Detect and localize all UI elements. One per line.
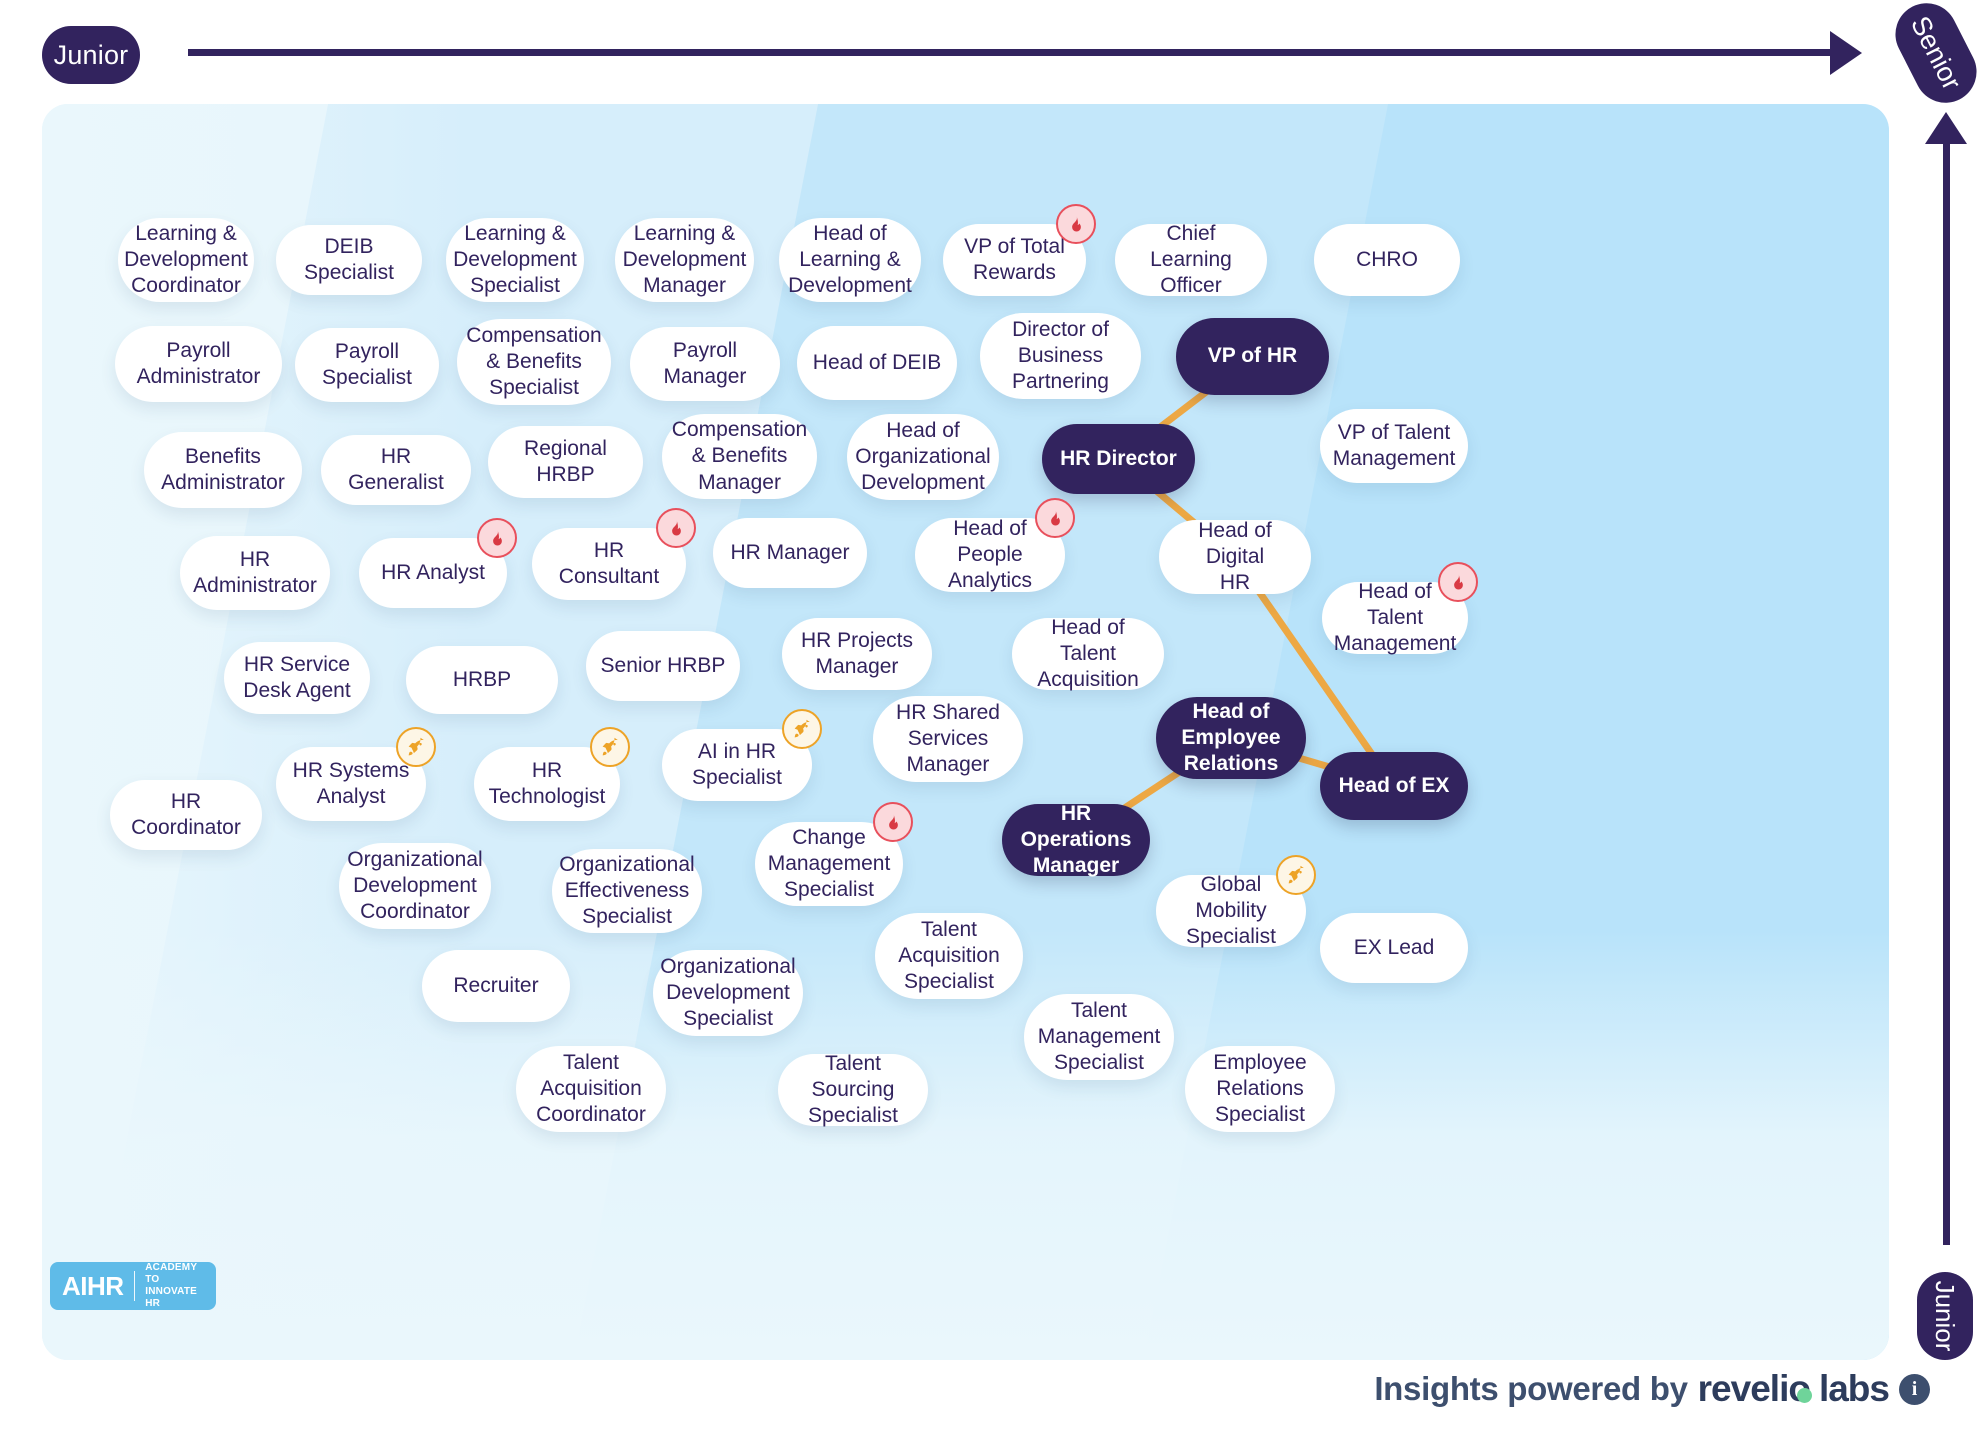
role-bubble-label: Compensation& BenefitsManager: [672, 417, 807, 495]
role-bubble-hr-manager[interactable]: HR Manager: [713, 518, 867, 588]
role-bubble-label: HR Analyst: [381, 560, 485, 586]
revelio-word: revelio: [1698, 1368, 1810, 1410]
role-bubble-hr-director[interactable]: HR Director: [1042, 424, 1195, 494]
aihr-wordmark: AIHR: [62, 1271, 124, 1302]
role-bubble-head-of-deib[interactable]: Head of DEIB: [797, 326, 957, 400]
role-bubble-label: Recruiter: [453, 973, 538, 999]
role-bubble-head-of-talent-acquisition[interactable]: Head of TalentAcquisition: [1012, 618, 1164, 690]
role-bubble-label: HRBP: [453, 667, 511, 693]
role-bubble-label: OrganizationalDevelopmentCoordinator: [347, 847, 482, 925]
role-bubble-payroll-specialist[interactable]: PayrollSpecialist: [295, 328, 439, 402]
footer-insights-text: Insights powered by: [1374, 1370, 1687, 1408]
role-bubble-chro[interactable]: CHRO: [1314, 224, 1460, 296]
role-bubble-label: DEIB Specialist: [288, 234, 410, 286]
flame-icon: [1035, 498, 1075, 538]
role-bubble-director-of-business-partnering[interactable]: Director ofBusinessPartnering: [980, 313, 1141, 399]
role-bubble-payroll-administrator[interactable]: PayrollAdministrator: [115, 326, 282, 402]
role-bubble-label: HR Generalist: [333, 444, 459, 496]
role-bubble-deib-specialist[interactable]: DEIB Specialist: [276, 225, 422, 295]
role-bubble-label: HRAdministrator: [193, 547, 317, 599]
role-bubble-label: VP of TotalRewards: [964, 234, 1065, 286]
role-bubble-talent-sourcing-specialist[interactable]: Talent SourcingSpecialist: [778, 1054, 928, 1126]
role-bubble-label: OrganizationalEffectivenessSpecialist: [559, 852, 694, 930]
axis-senior-badge: Senior: [1885, 0, 1986, 113]
role-bubble-label: Head ofOrganizationalDevelopment: [855, 418, 990, 496]
role-bubble-hr-projects-manager[interactable]: HR ProjectsManager: [782, 618, 932, 690]
seniority-axis-arrowhead: [1830, 31, 1862, 75]
role-bubble-hrbp[interactable]: HRBP: [406, 646, 558, 714]
seniority-axis-line: [188, 49, 1838, 56]
flame-icon: [1438, 562, 1478, 602]
role-bubble-label: Head of EX: [1339, 773, 1450, 799]
labs-word: labs: [1819, 1368, 1889, 1410]
role-bubble-ex-lead[interactable]: EX Lead: [1320, 913, 1468, 983]
role-bubble-label: HR Manager: [730, 540, 849, 566]
role-bubble-label: PayrollSpecialist: [322, 339, 412, 391]
role-bubble-label: Learning &DevelopmentCoordinator: [124, 221, 248, 299]
aihr-tagline-line2: INNOVATE HR: [145, 1286, 204, 1310]
role-bubble-label: Talent SourcingSpecialist: [790, 1051, 916, 1129]
role-bubble-label: Global MobilitySpecialist: [1168, 872, 1294, 950]
role-bubble-label: VP of TalentManagement: [1333, 420, 1456, 472]
role-bubble-label: Senior HRBP: [601, 653, 726, 679]
role-bubble-head-of-employee-relations[interactable]: Head ofEmployeeRelations: [1156, 697, 1306, 779]
role-bubble-organizational-development-coordinator[interactable]: OrganizationalDevelopmentCoordinator: [339, 843, 491, 929]
role-bubble-hr-shared-services-manager[interactable]: HR SharedServicesManager: [873, 696, 1023, 782]
role-bubble-label: PayrollAdministrator: [137, 338, 261, 390]
role-bubble-label: Head of TalentManagement: [1334, 579, 1457, 657]
role-bubble-learning-development-coordinator[interactable]: Learning &DevelopmentCoordinator: [118, 218, 254, 302]
role-bubble-hr-coordinator[interactable]: HR Coordinator: [110, 780, 262, 850]
role-bubble-label: TalentAcquisitionSpecialist: [898, 917, 1000, 995]
role-bubble-organizational-development-specialist[interactable]: OrganizationalDevelopmentSpecialist: [653, 950, 803, 1036]
role-bubble-compensation-benefits-specialist[interactable]: Compensation& BenefitsSpecialist: [457, 319, 611, 405]
role-bubble-label: HRTechnologist: [489, 758, 606, 810]
role-bubble-label: Learning &DevelopmentManager: [623, 221, 747, 299]
role-bubble-label: ChangeManagementSpecialist: [768, 825, 891, 903]
role-bubble-label: HR Director: [1060, 446, 1177, 472]
role-bubble-label: Head of PeopleAnalytics: [927, 516, 1053, 594]
role-bubble-label: Head ofEmployeeRelations: [1181, 699, 1280, 777]
role-bubble-employee-relations-specialist[interactable]: EmployeeRelationsSpecialist: [1185, 1046, 1335, 1132]
role-bubble-label: AI in HRSpecialist: [692, 739, 782, 791]
role-bubble-label: HR SystemsAnalyst: [293, 758, 410, 810]
role-bubble-label: Regional HRBP: [500, 436, 631, 488]
role-bubble-talent-acquisition-coordinator[interactable]: TalentAcquisitionCoordinator: [516, 1046, 666, 1132]
role-bubble-recruiter[interactable]: Recruiter: [422, 950, 570, 1022]
rocket-icon: [1276, 855, 1316, 895]
revelio-green-dot: [1797, 1388, 1812, 1403]
role-bubble-label: Head of TalentAcquisition: [1024, 615, 1152, 693]
role-bubble-hr-generalist[interactable]: HR Generalist: [321, 435, 471, 505]
career-path-map: Junior Senior Junior AIHR ACADEMY TO INN…: [0, 0, 1986, 1440]
role-bubble-label: HR OperationsManager: [1014, 801, 1138, 879]
role-bubble-benefits-administrator[interactable]: BenefitsAdministrator: [144, 432, 302, 508]
role-bubble-talent-management-specialist[interactable]: TalentManagementSpecialist: [1024, 994, 1174, 1080]
flame-icon: [1056, 204, 1096, 244]
role-bubble-label: TalentAcquisitionCoordinator: [536, 1050, 646, 1128]
flame-icon: [873, 802, 913, 842]
role-bubble-regional-hrbp[interactable]: Regional HRBP: [488, 426, 643, 498]
vertical-axis-arrowhead: [1925, 112, 1967, 144]
role-bubble-talent-acquisition-specialist[interactable]: TalentAcquisitionSpecialist: [875, 913, 1023, 999]
role-bubble-learning-development-specialist[interactable]: Learning &DevelopmentSpecialist: [446, 218, 584, 302]
revelio-labs-logo: reveliolabs: [1698, 1368, 1889, 1410]
role-bubble-vp-of-talent-management[interactable]: VP of TalentManagement: [1320, 409, 1468, 483]
role-bubble-label: BenefitsAdministrator: [161, 444, 285, 496]
role-bubble-label: Chief LearningOfficer: [1127, 221, 1255, 299]
role-bubble-label: Head of DEIB: [813, 350, 941, 376]
role-bubble-label: TalentManagementSpecialist: [1038, 998, 1161, 1076]
role-bubble-head-of-digital-hr[interactable]: Head of DigitalHR: [1159, 520, 1311, 594]
flame-icon: [656, 508, 696, 548]
aihr-logo: AIHR ACADEMY TO INNOVATE HR: [50, 1262, 216, 1310]
role-bubble-label: EX Lead: [1354, 935, 1435, 961]
role-bubble-label: CHRO: [1356, 247, 1418, 273]
vertical-axis-line: [1943, 140, 1950, 1245]
role-bubble-label: Director ofBusinessPartnering: [1012, 317, 1109, 395]
role-bubble-vp-of-hr[interactable]: VP of HR: [1176, 318, 1329, 395]
role-bubble-organizational-effectiveness-specialist[interactable]: OrganizationalEffectivenessSpecialist: [552, 849, 702, 933]
role-bubble-hr-administrator[interactable]: HRAdministrator: [180, 536, 330, 610]
role-bubble-chief-learning-officer[interactable]: Chief LearningOfficer: [1115, 224, 1267, 296]
rocket-icon: [782, 709, 822, 749]
aihr-tagline-line1: ACADEMY TO: [145, 1262, 204, 1286]
axis-junior-badge-bottom: Junior: [1917, 1272, 1973, 1360]
role-bubble-label: HR Consultant: [544, 538, 674, 590]
role-bubble-learning-development-manager[interactable]: Learning &DevelopmentManager: [615, 218, 754, 302]
role-bubble-label: HR SharedServicesManager: [896, 700, 1000, 778]
role-bubble-head-of-learning-development[interactable]: Head ofLearning &Development: [779, 218, 921, 302]
role-bubble-payroll-manager[interactable]: PayrollManager: [630, 327, 780, 401]
role-bubble-compensation-benefits-manager[interactable]: Compensation& BenefitsManager: [662, 414, 817, 499]
role-bubble-label: Head ofLearning &Development: [788, 221, 912, 299]
aihr-tagline: ACADEMY TO INNOVATE HR: [145, 1262, 204, 1309]
role-bubble-label: Head of DigitalHR: [1171, 518, 1299, 596]
role-bubble-hr-operations-manager[interactable]: HR OperationsManager: [1002, 804, 1150, 876]
role-bubble-label: OrganizationalDevelopmentSpecialist: [660, 954, 795, 1032]
role-bubble-hr-service-desk-agent[interactable]: HR ServiceDesk Agent: [224, 642, 370, 714]
role-bubble-label: PayrollManager: [664, 338, 747, 390]
role-bubble-label: HR Coordinator: [122, 789, 250, 841]
role-bubble-label: HR ServiceDesk Agent: [243, 652, 350, 704]
role-bubble-label: VP of HR: [1208, 343, 1297, 369]
role-bubble-label: Compensation& BenefitsSpecialist: [466, 323, 601, 401]
role-bubble-head-of-ex[interactable]: Head of EX: [1320, 752, 1468, 820]
role-bubble-senior-hrbp[interactable]: Senior HRBP: [586, 631, 740, 701]
role-bubble-label: EmployeeRelationsSpecialist: [1213, 1050, 1306, 1128]
role-bubble-label: HR ProjectsManager: [801, 628, 913, 680]
role-bubble-label: Learning &DevelopmentSpecialist: [453, 221, 577, 299]
role-bubble-head-of-organizational-development[interactable]: Head ofOrganizationalDevelopment: [847, 414, 999, 500]
info-icon[interactable]: i: [1899, 1374, 1930, 1405]
aihr-logo-divider: [134, 1271, 136, 1301]
rocket-icon: [590, 727, 630, 767]
axis-junior-badge-top: Junior: [42, 26, 140, 84]
flame-icon: [477, 518, 517, 558]
footer: Insights powered by reveliolabs i: [0, 1368, 1930, 1410]
rocket-icon: [396, 727, 436, 767]
